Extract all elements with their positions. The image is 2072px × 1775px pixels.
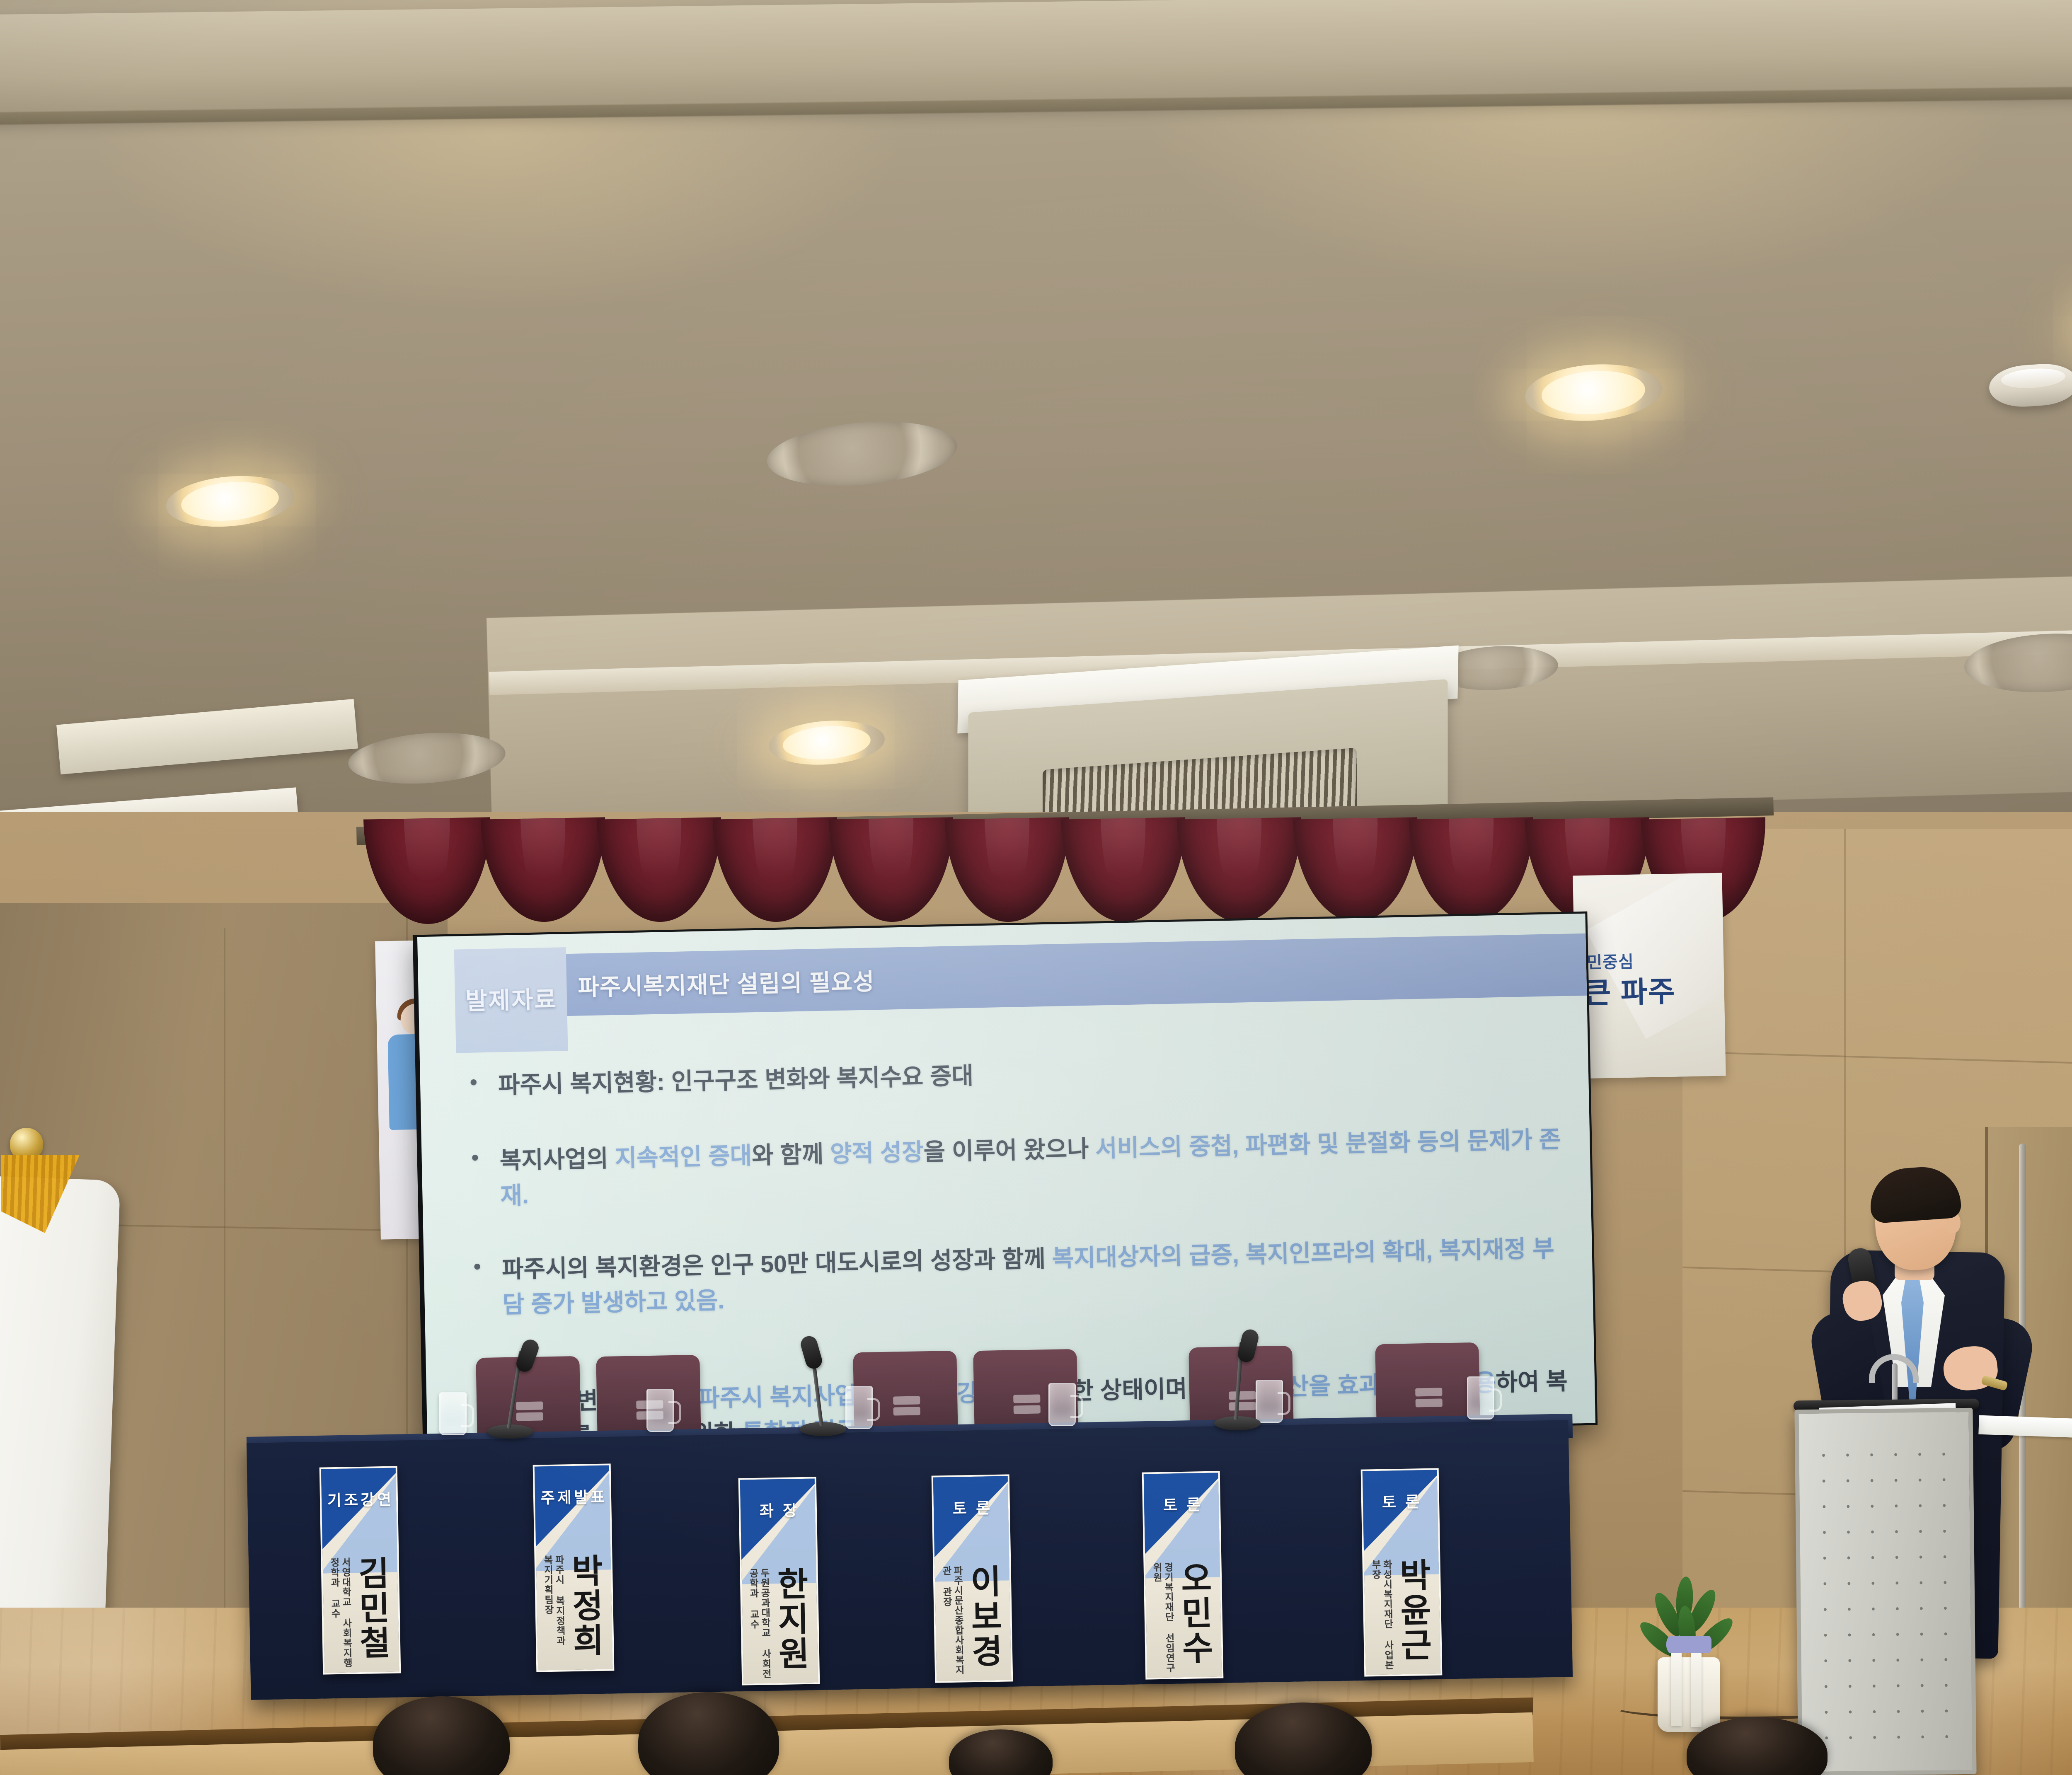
- water-glass[interactable]: [646, 1389, 674, 1432]
- podium-perforation-pattern: [1811, 1441, 1960, 1759]
- placard-affiliation: 파주시 복지정책과 복지기획팀장: [542, 1555, 566, 1666]
- name-placard: 토 론 박윤근 화성시복지재단 사업본부장: [1361, 1468, 1443, 1676]
- conference-hall-photo: 민중심 큰 파주 발제자료 파주시복지재단 설립의 필요성 파주시 복지현황: …: [0, 0, 2072, 1775]
- name-placard: 기조강연 김민철 서영대학교 사회복지행정학과 교수: [320, 1466, 401, 1674]
- slide-text-plain: 복지사업의: [499, 1145, 615, 1174]
- placard-affiliation: 파주시문산종합사회복지관 관장: [940, 1565, 965, 1677]
- table-microphone[interactable]: [487, 1343, 537, 1439]
- water-glass[interactable]: [1467, 1376, 1494, 1420]
- name-placard: 좌 장 한지원 두원공과대학교 사회전공학과 교수: [738, 1477, 820, 1685]
- slide-text-plain: 파주시의 복지환경은 인구 50만 대도시로의 성장과 함께: [501, 1245, 1052, 1283]
- korean-flag-icon: [0, 1173, 120, 1669]
- water-glass[interactable]: [439, 1392, 467, 1435]
- ribbon-bow-icon: [1666, 1636, 1711, 1653]
- flag-finial-icon: [10, 1128, 43, 1159]
- slide-bullet: 파주시의 복지환경은 인구 50만 대도시로의 성장과 함께 복지대상자의 급증…: [465, 1231, 1577, 1324]
- placard-affiliation: 서영대학교 사회복지행정학과 교수: [328, 1557, 353, 1669]
- speaker-podium: [1794, 1408, 1976, 1775]
- banner-line-2: 큰 파주: [1584, 968, 1676, 1012]
- slide-title: 파주시복지재단 설립의 필요성: [578, 963, 875, 1002]
- name-placard: 토 론 오민수 경기복지재단 선임연구위원: [1142, 1471, 1224, 1679]
- placard-role: 토 론: [1144, 1492, 1222, 1515]
- placard-name: 오민수: [1175, 1561, 1212, 1666]
- slide-text-plain: 와 함께: [752, 1141, 830, 1169]
- slide-bullet: 파주시 복지현황: 인구구조 변화와 복지수요 증대: [461, 1046, 1572, 1104]
- placard-role: 토 론: [1363, 1489, 1441, 1512]
- plant-pot: [1658, 1657, 1720, 1732]
- taeguk-symbol-icon: [0, 1305, 11, 1494]
- congratulatory-ribbon: [1671, 1647, 1682, 1726]
- slide-text-highlight: 양적 성장: [830, 1139, 924, 1167]
- slide-text-plain: 을 이루어 왔으나: [923, 1135, 1096, 1165]
- slide-bullet: 복지사업의 지속적인 증대와 함께 양적 성장을 이루어 왔으나 서비스의 중첩…: [463, 1122, 1575, 1215]
- panel-chair[interactable]: [1375, 1342, 1480, 1427]
- table-microphone[interactable]: [800, 1341, 850, 1436]
- placard-role: 좌 장: [741, 1497, 819, 1521]
- congratulatory-ribbon: [1691, 1646, 1702, 1727]
- name-placard: 주제발표 박정희 파주시 복지정책과 복지기획팀장: [533, 1463, 615, 1672]
- slide-text-highlight: 지속적인 증대: [615, 1142, 752, 1172]
- podium-papers: [1978, 1415, 2072, 1438]
- table-microphone[interactable]: [1214, 1335, 1264, 1430]
- placard-name: 박정희: [566, 1553, 603, 1658]
- slide-tag-label: 발제자료: [457, 980, 565, 1016]
- placard-name: 한지원: [771, 1567, 808, 1671]
- placard-name: 박윤근: [1394, 1558, 1431, 1663]
- placard-role: 주제발표: [535, 1484, 613, 1508]
- placard-affiliation: 경기복지재단 선임연구위원: [1151, 1562, 1175, 1673]
- placard-name: 김민철: [352, 1556, 390, 1661]
- placard-role: 기조강연: [322, 1487, 400, 1510]
- placard-role: 토 론: [934, 1495, 1012, 1519]
- placard-affiliation: 화성시복지재단 사업본부장: [1370, 1559, 1394, 1671]
- slide-text-plain: 파주시 복지현황: 인구구조 변화와 복지수요 증대: [498, 1062, 974, 1098]
- placard-affiliation: 두원공과대학교 사회전공학과 교수: [747, 1568, 772, 1679]
- water-glass[interactable]: [1048, 1383, 1076, 1426]
- paju-slogan-banner: 민중심 큰 파주: [1573, 873, 1726, 1079]
- placard-name: 이보경: [964, 1564, 1002, 1669]
- name-placard: 토 론 이보경 파주시문산종합사회복지관 관장: [932, 1474, 1013, 1683]
